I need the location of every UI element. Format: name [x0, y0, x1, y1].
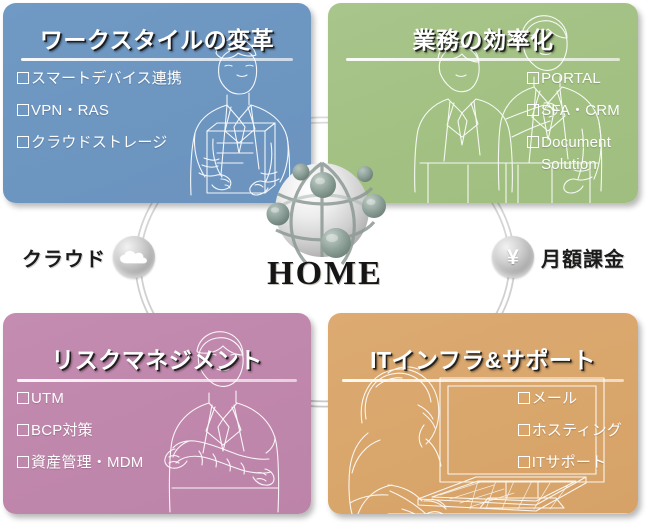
- panel-title: ワークスタイルの変革: [3, 21, 311, 55]
- list-item[interactable]: 資産管理・MDM: [17, 453, 143, 472]
- list-item[interactable]: メール: [518, 389, 622, 408]
- list-item[interactable]: ホスティング: [518, 421, 622, 440]
- title-divider: [342, 379, 624, 382]
- badge-billing-label: 月額課金: [541, 243, 625, 272]
- cloud-glyph: [119, 249, 149, 265]
- checkbox-icon[interactable]: [17, 72, 29, 84]
- list-item[interactable]: SFA・CRM: [527, 101, 620, 120]
- checkbox-icon[interactable]: [518, 424, 530, 436]
- checkbox-icon[interactable]: [17, 104, 29, 116]
- panel-risk[interactable]: リスクマネジメント UTM BCP対策 資産管理・MDM: [3, 313, 311, 514]
- list-item[interactable]: PORTAL: [527, 69, 620, 88]
- list-item[interactable]: VPN・RAS: [17, 101, 182, 120]
- list-item[interactable]: BCP対策: [17, 421, 143, 440]
- checklist-it: メール ホスティング ITサポート: [518, 389, 622, 486]
- checkbox-icon[interactable]: [518, 456, 530, 468]
- checkbox-icon[interactable]: [17, 424, 29, 436]
- yen-icon[interactable]: ¥: [492, 236, 534, 278]
- panel-title: リスクマネジメント: [3, 341, 311, 375]
- list-item[interactable]: ITサポート: [518, 453, 622, 472]
- cloud-icon[interactable]: [113, 236, 155, 278]
- list-item[interactable]: Document Solution: [527, 133, 620, 173]
- badge-cloud[interactable]: クラウド: [22, 236, 155, 278]
- checkbox-icon[interactable]: [17, 392, 29, 404]
- checkbox-icon[interactable]: [518, 392, 530, 404]
- checkbox-icon[interactable]: [527, 104, 539, 116]
- diagram-canvas: ワークスタイルの変革 スマートデバイス連携 VPN・RAS クラウドストレージ: [0, 0, 650, 527]
- checkbox-icon[interactable]: [527, 136, 539, 148]
- badge-cloud-label: クラウド: [22, 243, 106, 272]
- checkbox-icon[interactable]: [17, 136, 29, 148]
- title-divider: [346, 58, 620, 61]
- yen-glyph: ¥: [507, 247, 519, 268]
- badge-billing[interactable]: ¥ 月額課金: [492, 236, 625, 278]
- list-item[interactable]: UTM: [17, 389, 143, 408]
- list-item[interactable]: スマートデバイス連携: [17, 69, 182, 88]
- checkbox-icon[interactable]: [17, 456, 29, 468]
- title-divider: [17, 379, 297, 382]
- panel-it[interactable]: ITインフラ&サポート メール ホスティング ITサポート: [328, 313, 638, 514]
- panel-title: 業務の効率化: [328, 21, 638, 55]
- list-item[interactable]: クラウドストレージ: [17, 133, 182, 152]
- checkbox-icon[interactable]: [527, 72, 539, 84]
- checklist-efficiency: PORTAL SFA・CRM Document Solution: [527, 69, 620, 187]
- checklist-risk: UTM BCP対策 資産管理・MDM: [17, 389, 143, 486]
- checklist-workstyle: スマートデバイス連携 VPN・RAS クラウドストレージ: [17, 69, 182, 166]
- title-divider: [21, 58, 293, 61]
- panel-title: ITインフラ&サポート: [328, 341, 638, 375]
